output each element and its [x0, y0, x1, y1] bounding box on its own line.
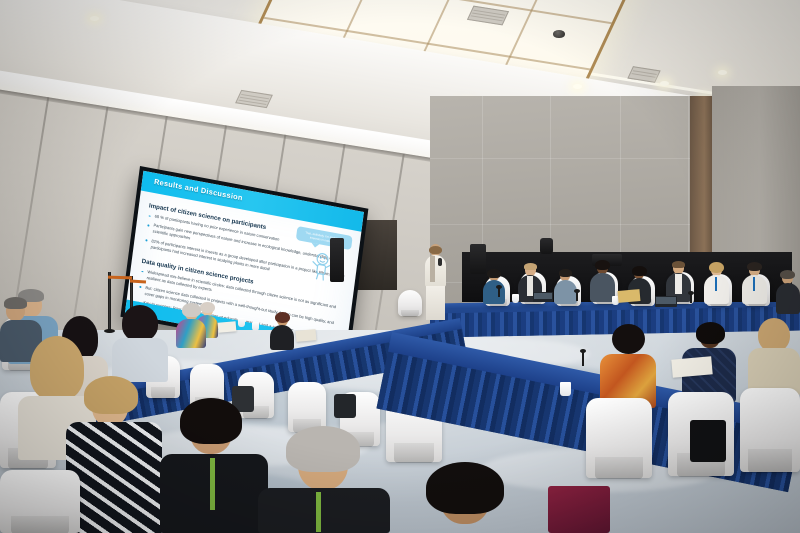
- panel-person: [742, 264, 767, 304]
- stanchion-post: [108, 272, 111, 330]
- cup: [560, 382, 571, 396]
- cup: [252, 322, 259, 331]
- audience-person: [112, 308, 168, 382]
- audience-person: [400, 470, 530, 533]
- audience-person: [258, 430, 390, 533]
- microphone-icon: [582, 352, 584, 366]
- lanyard: [210, 458, 215, 510]
- microphone-icon: [498, 288, 500, 297]
- paper-document: [671, 356, 712, 377]
- downlight: [660, 81, 669, 86]
- audience-person: [160, 400, 268, 533]
- downlight: [718, 70, 727, 75]
- paper-document: [296, 329, 317, 342]
- audience-person: [66, 382, 162, 533]
- microphone-icon: [690, 294, 692, 303]
- microphone-icon: [576, 292, 578, 301]
- audience-person: [690, 400, 760, 460]
- chair: [586, 398, 652, 478]
- chair: [0, 470, 80, 533]
- lanyard: [753, 277, 755, 291]
- laptop: [655, 296, 677, 307]
- lanyard: [316, 492, 321, 532]
- presenter-standing: [424, 244, 448, 320]
- panel-person: [554, 270, 577, 304]
- cup: [238, 318, 245, 327]
- light-stand: [540, 238, 553, 254]
- cup: [512, 294, 519, 303]
- paper-document: [618, 289, 641, 303]
- panel-person: [704, 264, 729, 304]
- pa-speaker: [330, 238, 344, 282]
- downlight: [90, 16, 99, 21]
- delegate-person: [748, 322, 800, 396]
- chair: [288, 382, 326, 432]
- delegate-person: [600, 330, 656, 408]
- panel-person: [776, 272, 800, 314]
- audience-person: [176, 306, 206, 348]
- microphone-icon: [438, 258, 442, 266]
- conference-room-photo: Results and Discussion Impact of citizen…: [0, 0, 800, 533]
- suitcase: [548, 486, 610, 533]
- chair: [398, 290, 422, 316]
- security-camera-icon: [553, 30, 565, 38]
- lanyard: [715, 277, 717, 291]
- downlight: [573, 84, 582, 89]
- delegate-person: [270, 314, 294, 350]
- bag: [334, 394, 356, 418]
- paper-document: [218, 321, 237, 333]
- laptop: [533, 292, 553, 302]
